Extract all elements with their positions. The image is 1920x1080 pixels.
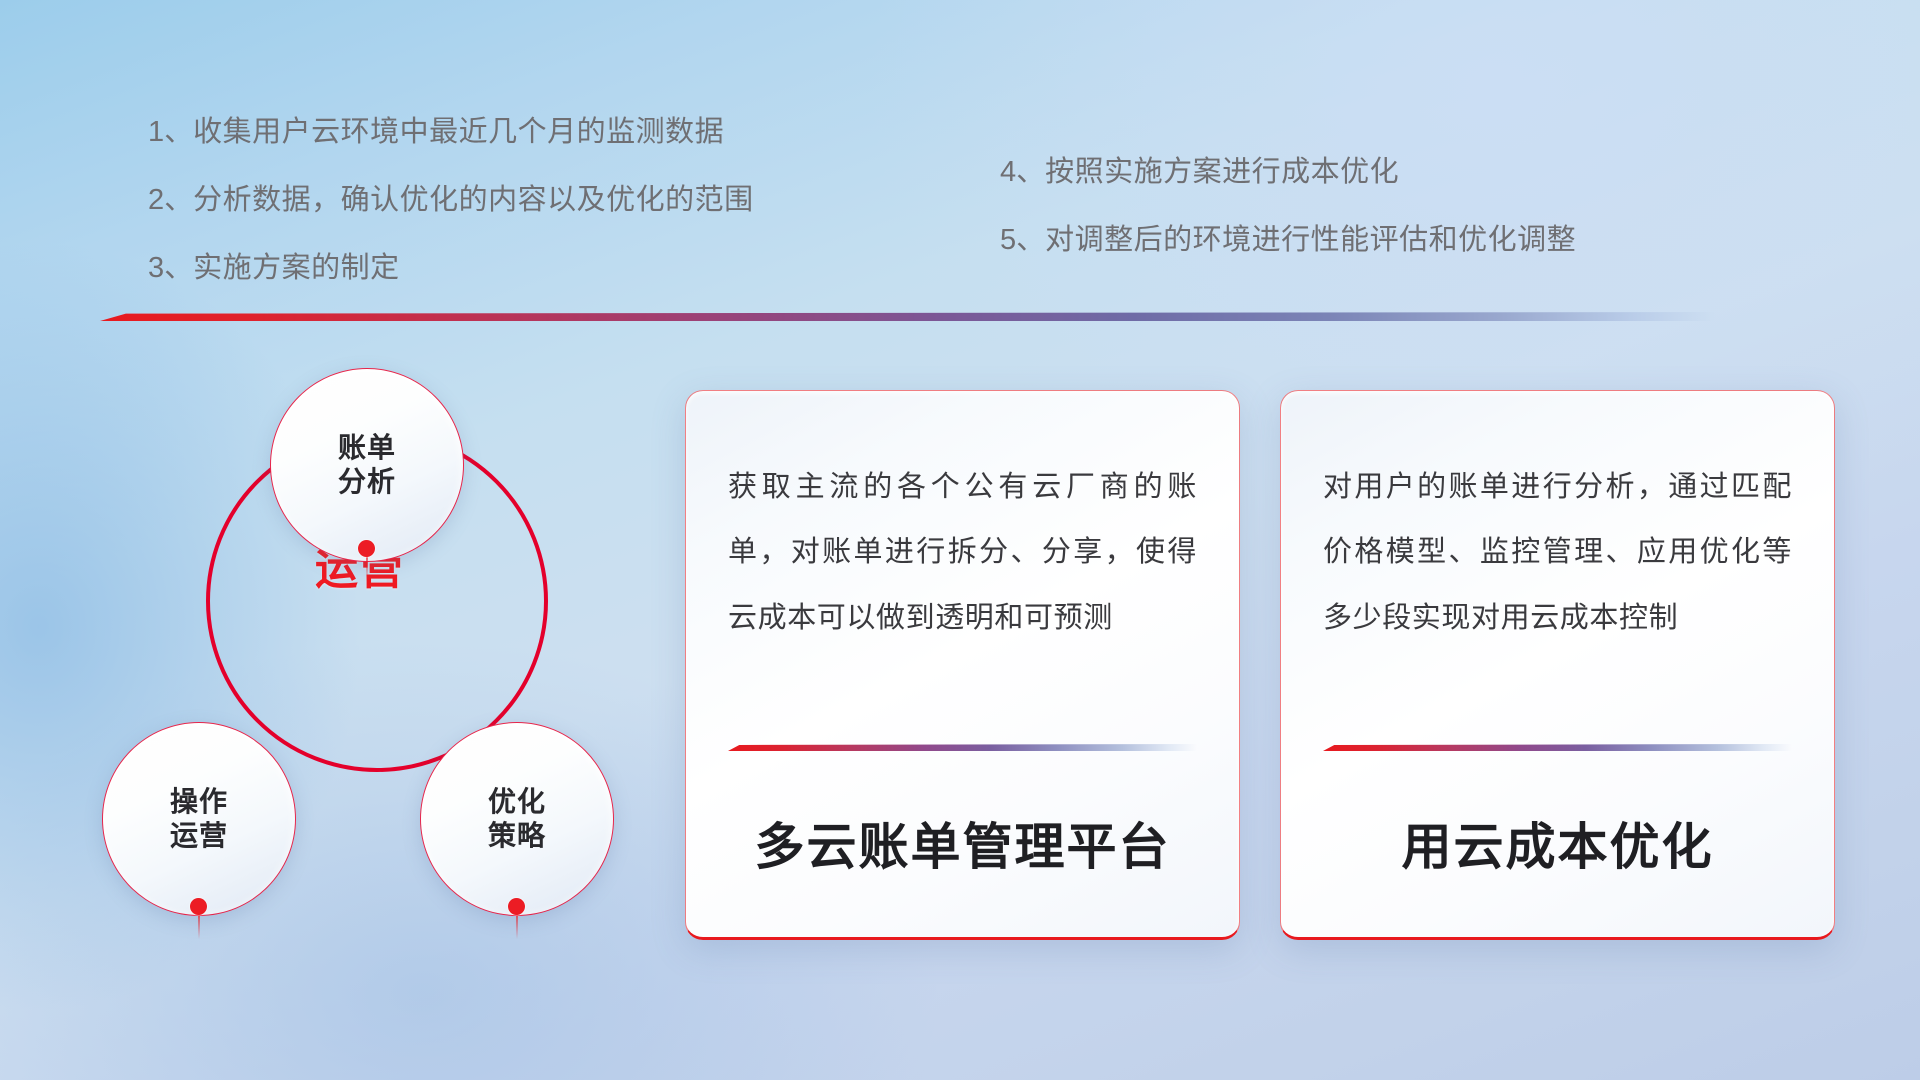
feature-card-multicloud-billing[interactable]: 获取主流的各个公有云厂商的账单，对账单进行拆分、分享，使得云成本可以做到透明和可… bbox=[685, 390, 1240, 940]
list-item: 1、收集用户云环境中最近几个月的监测数据 bbox=[148, 118, 754, 147]
list-item-number: 5、 bbox=[1000, 224, 1045, 256]
bubble-label-line1: 操作 bbox=[170, 785, 228, 819]
node-dot-icon bbox=[358, 540, 375, 557]
bubble-label-line2: 策略 bbox=[488, 819, 546, 853]
node-dot-icon bbox=[190, 898, 207, 915]
list-item-text: 收集用户云环境中最近几个月的监测数据 bbox=[193, 116, 724, 148]
list-item-number: 4、 bbox=[1000, 156, 1045, 188]
card-title: 多云账单管理平台 bbox=[686, 807, 1239, 879]
card-title: 用云成本优化 bbox=[1281, 807, 1834, 879]
bubble-label-line1: 账单 bbox=[338, 431, 396, 465]
list-item: 3、实施方案的制定 bbox=[148, 254, 754, 283]
process-list-left: 1、收集用户云环境中最近几个月的监测数据 2、分析数据，确认优化的内容以及优化的… bbox=[148, 118, 754, 322]
process-list-right: 4、按照实施方案进行成本优化 5、对调整后的环境进行性能评估和优化调整 bbox=[1000, 158, 1576, 294]
list-item-number: 2、 bbox=[148, 184, 193, 216]
bubble-label-line2: 运营 bbox=[170, 819, 228, 853]
list-item: 4、按照实施方案进行成本优化 bbox=[1000, 158, 1576, 187]
venn-bubble-operations[interactable]: 操作 运营 bbox=[102, 722, 296, 916]
list-item-text: 实施方案的制定 bbox=[193, 252, 400, 284]
card-divider-gradient-bar bbox=[728, 744, 1197, 751]
list-item-number: 3、 bbox=[148, 252, 193, 284]
header-divider bbox=[100, 312, 1715, 321]
card-divider bbox=[1323, 744, 1792, 751]
list-item-text: 对调整后的环境进行性能评估和优化调整 bbox=[1045, 224, 1576, 256]
bubble-label-line2: 分析 bbox=[338, 465, 396, 499]
divider-gradient-bar bbox=[100, 312, 1715, 321]
node-stem-icon bbox=[366, 555, 368, 581]
card-divider-gradient-bar bbox=[1323, 744, 1792, 751]
venn-bubble-optimization-strategy[interactable]: 优化 策略 bbox=[420, 722, 614, 916]
node-stem-icon bbox=[516, 913, 518, 939]
node-dot-icon bbox=[508, 898, 525, 915]
bubble-label-line1: 优化 bbox=[488, 785, 546, 819]
feature-card-cloud-cost-optimization[interactable]: 对用户的账单进行分析，通过匹配价格模型、监控管理、应用优化等多少段实现对用云成本… bbox=[1280, 390, 1835, 940]
node-stem-icon bbox=[198, 913, 200, 939]
list-item-text: 分析数据，确认优化的内容以及优化的范围 bbox=[193, 184, 754, 216]
venn-diagram: 持续 运营 账单 分析 操作 运营 优化 策略 bbox=[80, 350, 640, 950]
list-item: 2、分析数据，确认优化的内容以及优化的范围 bbox=[148, 186, 754, 215]
card-body-text: 对用户的账单进行分析，通过匹配价格模型、监控管理、应用优化等多少段实现对用云成本… bbox=[1323, 455, 1792, 715]
card-body-text: 获取主流的各个公有云厂商的账单，对账单进行拆分、分享，使得云成本可以做到透明和可… bbox=[728, 455, 1197, 715]
card-divider bbox=[728, 744, 1197, 751]
list-item: 5、对调整后的环境进行性能评估和优化调整 bbox=[1000, 226, 1576, 255]
list-item-text: 按照实施方案进行成本优化 bbox=[1045, 156, 1399, 188]
venn-bubble-billing-analysis[interactable]: 账单 分析 bbox=[270, 368, 464, 562]
list-item-number: 1、 bbox=[148, 116, 193, 148]
